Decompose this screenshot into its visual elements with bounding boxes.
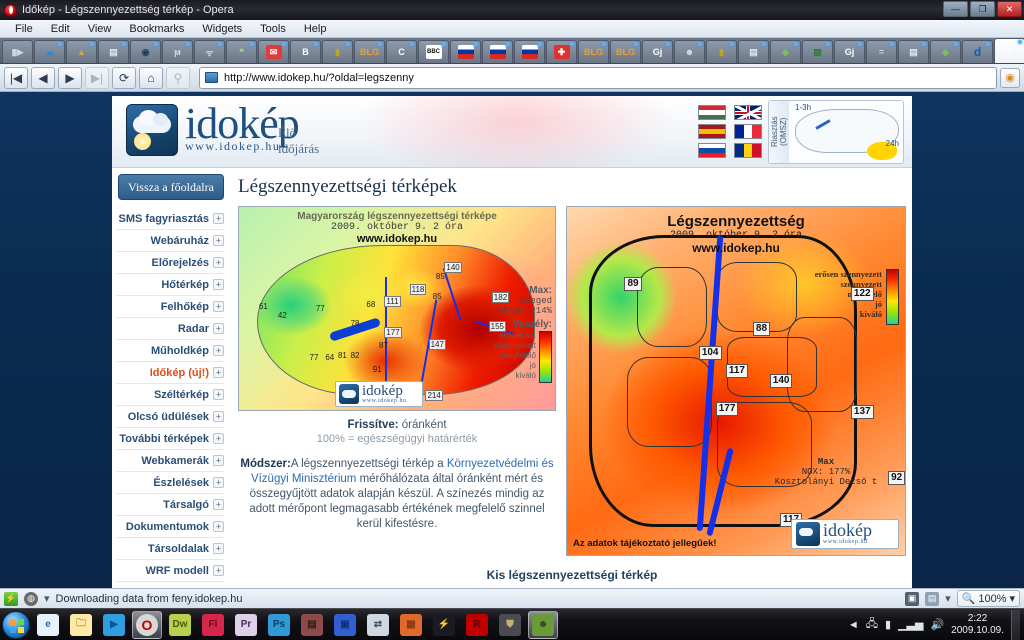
tab-0-panel-toggle-icon[interactable]: ▮▶ (2, 40, 33, 63)
tab-26-gj-icon[interactable]: Gj (834, 40, 865, 63)
mp-icon: ϻ (170, 45, 186, 59)
method-text: Módszer:A légszennyezettségi térkép a Kö… (238, 457, 556, 532)
sidebar-item-web-ruh-z[interactable]: Webáruház+ (116, 230, 224, 252)
tab-17-red-cross-icon[interactable]: ✚ (546, 40, 577, 63)
tab-loading-dot (346, 42, 350, 46)
sidebar-item-dokumentumok[interactable]: Dokumentumok+ (116, 516, 224, 538)
tab-loading-dot (762, 42, 766, 46)
first-page-icon[interactable]: |◀ (4, 67, 28, 89)
taskbar-photoshop-icon[interactable]: Ps (264, 611, 294, 639)
expand-icon[interactable]: + (213, 323, 224, 334)
arrow-up-icon[interactable]: ◄ (848, 619, 859, 631)
key-icon[interactable]: ⚲ (166, 67, 190, 89)
sidebar-item-label: Olcsó üdülések (128, 411, 209, 423)
battery-icon[interactable]: ▮ (885, 618, 891, 631)
bbc-icon: BBC (426, 45, 442, 59)
expand-icon[interactable]: + (213, 389, 224, 400)
zoom-level: 100% (978, 593, 1006, 605)
back-to-home-button[interactable]: Vissza a főoldalra (118, 174, 224, 200)
tab-12-letter-c-icon[interactable]: C (386, 40, 417, 63)
forward-icon[interactable]: ▶ (58, 67, 82, 89)
station-label: 61 (258, 302, 269, 311)
station-label: 177 (716, 402, 739, 416)
internet-explorer-icon: e (37, 614, 59, 636)
omsz-alert-widget[interactable]: Riasztás (OMSZ) 1-3h 24h (768, 100, 904, 164)
system-tray: ◄ 🖧 ▮ ▁▃▅ 🔊 2:22 2009.10.09. (848, 610, 1024, 640)
hungary-pollution-map[interactable]: Magyarország légszennyezettségi térképe … (238, 206, 556, 411)
menu-item-edit[interactable]: Edit (42, 23, 79, 35)
bike-icon: ᯤ (202, 45, 218, 59)
menu-item-help[interactable]: Help (295, 23, 336, 35)
tab-loading-dot (730, 42, 734, 46)
sidebar-item-sz-lt-rk-p[interactable]: Széltérkép+ (116, 384, 224, 406)
map-header: Magyarország légszennyezettségi térképe … (239, 211, 555, 245)
film-icon: ▤ (301, 614, 323, 636)
legend-label-1: szennyezett (493, 341, 536, 351)
globe-icon[interactable]: ◍ (24, 592, 38, 606)
station-label: 122 (851, 287, 874, 301)
station-label: 82 (350, 351, 361, 360)
opera-browser-window: Időkép - Légszennyezettség térkép - Oper… (0, 0, 1024, 640)
taskbar-network-icon[interactable]: ⇄ (363, 611, 393, 639)
messenger-icon: ☻ (532, 614, 554, 636)
map-source: www.idokep.hu (239, 233, 555, 245)
info-block: Frissítve: óránként 100% = egészségügyi … (238, 419, 556, 532)
tab-4-radar-icon[interactable]: ◉ (130, 40, 161, 63)
station-label: 64 (324, 353, 335, 362)
sidebar-item-label: Webkamerák (141, 455, 209, 467)
menu-bar: File Edit View Bookmarks Widgets Tools H… (0, 20, 1024, 38)
tab-loading-dot (858, 42, 862, 46)
tab-2-mountain-icon[interactable]: ▲ (66, 40, 97, 63)
display-icon[interactable]: ▤ (925, 592, 939, 606)
tab-loading-dot (954, 42, 958, 46)
start-orb-icon[interactable] (2, 611, 30, 639)
sidebar-item-label: Dokumentumok (126, 521, 209, 533)
tab-29-map-icon[interactable]: ◈ (930, 40, 961, 63)
method-label: Módszer: (240, 458, 290, 470)
station-label: 85 (435, 272, 446, 281)
bp-max-station: Kosztolányi Dezső t (751, 477, 901, 487)
sidebar-item-label: Webáruház (151, 235, 209, 247)
blog-icon: BLG (362, 45, 378, 59)
station-label: 137 (851, 405, 874, 419)
sidebar: Vissza a főoldalra SMS fagyriasztás+Webá… (112, 168, 228, 588)
bp-subtitle: 2009. október 9. 2 óra (567, 230, 905, 241)
home-icon[interactable]: ⌂ (139, 67, 163, 89)
omsz-mini-map[interactable]: 1-3h 24h (789, 101, 903, 163)
russia-flag-icon (458, 45, 474, 59)
dreamweaver-icon: Dw (169, 614, 191, 636)
tab-9-letter-b-icon[interactable]: B (290, 40, 321, 63)
flash-icon: Fl (202, 614, 224, 636)
sidebar-item-olcs-d-l-sek[interactable]: Olcsó üdülések+ (116, 406, 224, 428)
bp-title: Légszennyezettség (567, 213, 905, 230)
tab-loading-dot (986, 42, 990, 46)
tab-loading-dot (282, 42, 286, 46)
tab-8-mail-icon[interactable]: ✉ (258, 40, 289, 63)
minimize-button[interactable]: — (943, 1, 968, 17)
clock-date: 2009.10.09. (951, 625, 1004, 637)
clock-time: 2:22 (951, 613, 1004, 625)
tab-5-mp-icon[interactable]: ϻ (162, 40, 193, 63)
address-bar[interactable]: http://www.idokep.hu/?oldal=legszenny (199, 67, 997, 89)
tab-23-news-icon[interactable]: ▤ (738, 40, 769, 63)
omsz-label: Riasztás (OMSZ) (769, 101, 789, 163)
taskbar-premiere-icon[interactable]: Pr (231, 611, 261, 639)
legend-label-0: erősen sz. (493, 331, 536, 341)
menu-item-view[interactable]: View (79, 23, 121, 35)
maximize-button[interactable]: ❐ (970, 1, 995, 17)
cloud-icon (796, 522, 820, 546)
legend-label-4: kiváló (493, 371, 536, 381)
refresh-label: Frissítve: (347, 419, 398, 431)
rss-icon[interactable]: ◉ (1000, 68, 1020, 88)
sidebar-item-t-rsoldalak[interactable]: Társoldalak+ (116, 538, 224, 560)
taskbar-shield-icon[interactable]: ⛊ (495, 611, 525, 639)
title-bar: Időkép - Légszennyezettség térkép - Oper… (0, 0, 1024, 20)
watermark-text: idokép (362, 383, 403, 399)
sidebar-item-label: Időkép (új!) (150, 367, 209, 379)
red-cross-icon: ✚ (554, 45, 570, 59)
sidebar-item-sms-fagyriaszt-s[interactable]: SMS fagyriasztás+ (116, 208, 224, 230)
taskbar-clock[interactable]: 2:22 2009.10.09. (951, 613, 1004, 637)
opera-logo-icon (4, 4, 17, 17)
lightning-icon: ⚡ (433, 614, 455, 636)
station-label: 140 (444, 262, 461, 273)
district-shape (637, 267, 707, 347)
tab-loading-dot (314, 42, 318, 46)
expand-icon[interactable]: + (213, 543, 224, 554)
budapest-map-header: Légszennyezettség 2009. október 9. 2 óra… (567, 213, 905, 255)
tab-11-blog-icon[interactable]: BLG (354, 40, 385, 63)
web-page: idokép www.idokep.hu Élő időjárás (112, 96, 912, 588)
legend-label-2: megfelelő (493, 351, 536, 361)
tab-loading-dot (922, 42, 926, 46)
district-shape (627, 357, 712, 447)
omsz-near-label: 1-3h (795, 103, 811, 112)
method-part1: A légszennyezettségi térkép a (291, 458, 447, 470)
dropdown-icon[interactable]: ▾ (44, 592, 50, 605)
hungary-flag-icon[interactable] (698, 105, 726, 120)
station-label: 78 (350, 319, 361, 328)
panel-toggle-icon: ▮▶ (10, 45, 26, 59)
sidebar-item-t-rsalg[interactable]: Társalgó+ (116, 494, 224, 516)
station-label: 91 (372, 365, 383, 374)
photo-icon: ▨ (810, 45, 826, 59)
display-dropdown-icon[interactable]: ▾ (945, 592, 951, 605)
tab-30-letter-d-icon[interactable]: d (962, 40, 993, 63)
tab-loading-dot (154, 42, 158, 46)
taskbar-dreamweaver-icon[interactable]: Dw (165, 611, 195, 639)
tab-18-blog-icon[interactable]: BLG (578, 40, 609, 63)
expand-icon[interactable]: + (213, 521, 224, 532)
station-label: 85 (432, 292, 443, 301)
russia-flag-icon (490, 45, 506, 59)
station-label: 81 (337, 351, 348, 360)
tab-loading-dot (794, 42, 798, 46)
expand-icon[interactable]: + (213, 433, 224, 444)
tab-20-gj-icon[interactable]: Gj (642, 40, 673, 63)
taskbar-opera-icon[interactable]: O (132, 611, 162, 639)
threshold-note: 100% = egészségügyi határérték (238, 433, 556, 445)
back-icon[interactable]: ◀ (31, 67, 55, 89)
language-flags (698, 105, 762, 158)
cloud-icon (339, 384, 359, 404)
sidebar-item-szlel-sek[interactable]: Észlelések+ (116, 472, 224, 494)
station-label: 87 (378, 341, 389, 350)
station-label: 89 (624, 277, 641, 291)
france-flag-icon[interactable] (734, 124, 762, 139)
tab-loading-dot (890, 42, 894, 46)
news-icon: ▤ (906, 45, 922, 59)
status-bar: ⚡ ◍ ▾ Downloading data from feny.idokep.… (0, 588, 1024, 608)
idokep-watermark: idokép www.idokep.hu (791, 519, 899, 549)
watermark-text: idokép (823, 520, 872, 540)
maps-row: Magyarország légszennyezettségi térképe … (238, 206, 906, 556)
tab-21-robot-icon[interactable]: ☻ (674, 40, 705, 63)
sidebar-item-felh-k-p[interactable]: Felhőkép+ (116, 296, 224, 318)
station-label: 118 (410, 284, 427, 295)
menu-item-bookmarks[interactable]: Bookmarks (120, 23, 193, 35)
legend-color-scale (539, 331, 552, 383)
expand-icon[interactable]: + (213, 235, 224, 246)
map-icon: ◈ (938, 45, 954, 59)
tab-loading-dot (506, 42, 510, 46)
sidebar-item-h-t-rk-p[interactable]: Hőtérkép+ (116, 274, 224, 296)
sidebar-item-wrf-modell[interactable]: WRF modell+ (116, 560, 224, 582)
bp-max-label: Max (818, 457, 834, 467)
news-icon: ▤ (106, 45, 122, 59)
expand-icon[interactable]: + (213, 301, 224, 312)
tab-loading-dot (442, 42, 446, 46)
bp-legend-label-4: kiváló (815, 309, 882, 319)
signal-icon[interactable]: ▁▃▅ (898, 618, 923, 631)
sidebar-item-label: Előrejelzés (152, 257, 209, 269)
network-icon: ⇄ (367, 614, 389, 636)
menu-item-tools[interactable]: Tools (251, 23, 295, 35)
tab-1-blue-cloud-icon[interactable]: ☁ (34, 40, 65, 63)
tab-15-russia-flag-icon[interactable] (482, 40, 513, 63)
bp-max-value: NOX: 177% (751, 467, 901, 477)
budapest-pollution-map[interactable]: Légszennyezettség 2009. október 9. 2 óra… (566, 206, 906, 556)
menu-item-file[interactable]: File (6, 23, 42, 35)
site-logo[interactable]: idokép www.idokep.hu Élő időjárás (126, 104, 299, 156)
letter-d-icon: d (970, 45, 986, 59)
sidebar-item-id-k-p-j[interactable]: Időkép (új!)+ (116, 362, 224, 384)
zoom-dropdown-icon[interactable]: ▾ (1009, 592, 1015, 605)
omsz-far-label: 24h (886, 139, 899, 148)
tab-16-russia-flag-icon[interactable] (514, 40, 545, 63)
tab-loading-dot (474, 42, 478, 46)
premiere-icon: Pr (235, 614, 257, 636)
tab-28-news-icon[interactable]: ▤ (898, 40, 929, 63)
station-label: 88 (753, 322, 770, 336)
station-label: 42 (277, 311, 288, 320)
red-r-icon: R (466, 614, 488, 636)
tab-loading-dot (218, 42, 222, 46)
expand-icon[interactable]: + (213, 279, 224, 290)
bp-legend-color-scale (886, 269, 899, 325)
tab-6-bike-icon[interactable]: ᯤ (194, 40, 225, 63)
quote-icon: ❝ (234, 45, 250, 59)
sidebar-item-webkamer-k[interactable]: Webkamerák+ (116, 450, 224, 472)
sidebar-item-label: Radar (178, 323, 209, 335)
reload-icon[interactable]: ⟳ (112, 67, 136, 89)
tab-loading-dot (570, 42, 574, 46)
station-label: 214 (425, 390, 442, 401)
tab-19-blog-icon[interactable]: BLG (610, 40, 641, 63)
battery-icon: ▮ (330, 45, 346, 59)
close-button[interactable]: ✕ (997, 1, 1022, 17)
tab-22-battery-icon[interactable]: ▮ (706, 40, 737, 63)
network-error-icon[interactable]: 🖧 (866, 615, 878, 634)
volume-icon[interactable]: 🔊 (930, 618, 944, 631)
taskbar-film-icon[interactable]: ▤ (297, 611, 327, 639)
expand-icon[interactable]: + (213, 213, 224, 224)
tab-loading-dot (122, 42, 126, 46)
zoom-control[interactable]: 🔍 100% ▾ (957, 590, 1020, 607)
navigation-toolbar: |◀ ◀ ▶ ▶| ⟳ ⌂ ⚲ http://www.idokep.hu/?ol… (0, 64, 1024, 92)
spain-flag-icon[interactable] (698, 124, 726, 139)
sidebar-item-label: Társalgó (163, 499, 209, 511)
windows-taskbar: e🗀▶ODwFlPrPs▤▣⇄▦⚡R⛊☻ ◄ 🖧 ▮ ▁▃▅ 🔊 2:22 20… (0, 608, 1024, 640)
tab-strip[interactable]: ▮▶☁▲▤◉ϻᯤ❝✉B▮BLGCBBC✚BLGBLGGj☻▮▤◈▨Gj=▤◈d✕… (0, 38, 1024, 64)
status-message: Downloading data from feny.idokep.hu (56, 593, 243, 605)
expand-icon[interactable]: + (213, 367, 224, 378)
blue-cloud-icon: ☁ (42, 45, 58, 59)
slovakia-flag-icon[interactable] (698, 143, 726, 158)
tab-loading-dot (90, 42, 94, 46)
opera-icon: O (136, 614, 158, 636)
tab-loading-dot (538, 42, 542, 46)
romania-flag-icon[interactable] (734, 143, 762, 158)
taskbar-internet-explorer-icon[interactable]: e (33, 611, 63, 639)
tab-3-news-icon[interactable]: ▤ (98, 40, 129, 63)
sidebar-item-m-holdk-p[interactable]: Műholdkép+ (116, 340, 224, 362)
robot-icon: ☻ (682, 45, 698, 59)
legend-labels: erősen sz. szennyezett megfelelő jó kivá… (493, 331, 536, 383)
expand-icon[interactable]: + (213, 477, 224, 488)
explorer-folder-icon: 🗀 (70, 614, 92, 636)
taskbar-floppy-save-icon[interactable]: ▣ (330, 611, 360, 639)
max-city: Szeged (476, 296, 552, 306)
refresh-value: óránként (402, 419, 447, 431)
cloud-sun-logo-icon (126, 104, 178, 156)
taskbar-explorer-folder-icon[interactable]: 🗀 (66, 611, 96, 639)
magnifier-icon: 🔍 (962, 592, 976, 605)
expand-icon[interactable]: + (213, 499, 224, 510)
page-viewport: idokép www.idokep.hu Élő időjárás (0, 92, 1024, 588)
district-shape (787, 317, 857, 412)
letter-b-icon: B (298, 45, 314, 59)
tab-7-quote-icon[interactable]: ❝ (226, 40, 257, 63)
office-icon: ▦ (400, 614, 422, 636)
station-label: 77 (315, 304, 326, 313)
show-desktop-button[interactable] (1011, 610, 1020, 640)
address-input[interactable]: http://www.idokep.hu/?oldal=legszenny (224, 72, 414, 84)
tab-loading-dot (58, 42, 62, 46)
taskbar-media-player-icon[interactable]: ▶ (99, 611, 129, 639)
uk-flag-icon[interactable] (734, 105, 762, 120)
sidebar-item-label: Hőtérkép (161, 279, 209, 291)
tab-loading-dot (1018, 40, 1022, 44)
bp-legend-label-0: erősen szennyezett (815, 269, 882, 279)
mail-icon: ✉ (266, 45, 282, 59)
opera-turbo-icon[interactable]: ⚡ (4, 592, 18, 606)
station-label: 117 (726, 364, 748, 378)
bp-source: www.idokep.hu (567, 241, 905, 255)
station-label: 104 (699, 346, 722, 360)
expand-icon[interactable]: + (213, 345, 224, 356)
max-label: Max: (476, 285, 552, 296)
hungary-map-legend: Max: Szeged PM10: 214% Veszély: erősen s… (476, 285, 552, 383)
blog-icon: BLG (586, 45, 602, 59)
russia-flag-icon (522, 45, 538, 59)
tab-13-bbc-icon[interactable]: BBC (418, 40, 449, 63)
images-icon[interactable]: ▣ (905, 592, 919, 606)
gj-icon: Gj (650, 45, 666, 59)
sidebar-item-label: További térképek (119, 433, 209, 445)
media-player-icon: ▶ (103, 614, 125, 636)
tab-loading-dot (826, 42, 830, 46)
watermark-domain: www.idokep.hu (362, 398, 406, 404)
mountain-icon: ▲ (74, 45, 90, 59)
expand-icon[interactable]: + (213, 257, 224, 268)
photoshop-icon: Ps (268, 614, 290, 636)
sidebar-item-radar[interactable]: Radar+ (116, 318, 224, 340)
sidebar-item-label: WRF modell (145, 565, 209, 577)
taskbar-flash-icon[interactable]: Fl (198, 611, 228, 639)
floppy-save-icon: ▣ (334, 614, 356, 636)
taskbar-lightning-icon[interactable]: ⚡ (429, 611, 459, 639)
station-label: 147 (429, 339, 446, 350)
window-controls: — ❐ ✕ (943, 1, 1022, 17)
tab-loading-dot (378, 42, 382, 46)
last-page-icon[interactable]: ▶| (85, 67, 109, 89)
blog-icon: BLG (618, 45, 634, 59)
taskbar-messenger-icon[interactable]: ☻ (528, 611, 558, 639)
max-value: PM10: 214% (476, 306, 552, 316)
idokep-watermark: idokép www.idokep.hu (335, 381, 423, 407)
site-header: idokép www.idokep.hu Élő időjárás (112, 96, 912, 168)
tab-27-equals-icon[interactable]: = (866, 40, 897, 63)
tab-loading-dot (698, 42, 702, 46)
taskbar-office-icon[interactable]: ▦ (396, 611, 426, 639)
tab-loading-dot (250, 42, 254, 46)
expand-icon[interactable]: + (213, 455, 224, 466)
taskbar-red-r-icon[interactable]: R (462, 611, 492, 639)
tab-loading-dot (634, 42, 638, 46)
expand-icon[interactable]: + (213, 411, 224, 422)
station-label: 77 (309, 353, 320, 362)
sidebar-item-el-rejelz-s[interactable]: Előrejelzés+ (116, 252, 224, 274)
tab-14-russia-flag-icon[interactable] (450, 40, 481, 63)
tab-loading-dot (186, 42, 190, 46)
menu-item-widgets[interactable]: Widgets (193, 23, 251, 35)
tab-25-photo-icon[interactable]: ▨ (802, 40, 833, 63)
sidebar-item-tov-bbi-t-rk-pek[interactable]: További térképek+ (116, 428, 224, 450)
tab-10-battery-icon[interactable]: ▮ (322, 40, 353, 63)
tab-31-close-icon[interactable]: ✕ (994, 38, 1024, 63)
station-label: 140 (770, 374, 793, 388)
news-icon: ▤ (746, 45, 762, 59)
tab-24-map-icon[interactable]: ◈ (770, 40, 801, 63)
legend-title: Veszély: (476, 319, 552, 330)
window-title: Időkép - Légszennyezettség térkép - Oper… (22, 4, 234, 16)
sidebar-item-label: Felhőkép (161, 301, 209, 313)
expand-icon[interactable]: + (213, 565, 224, 576)
